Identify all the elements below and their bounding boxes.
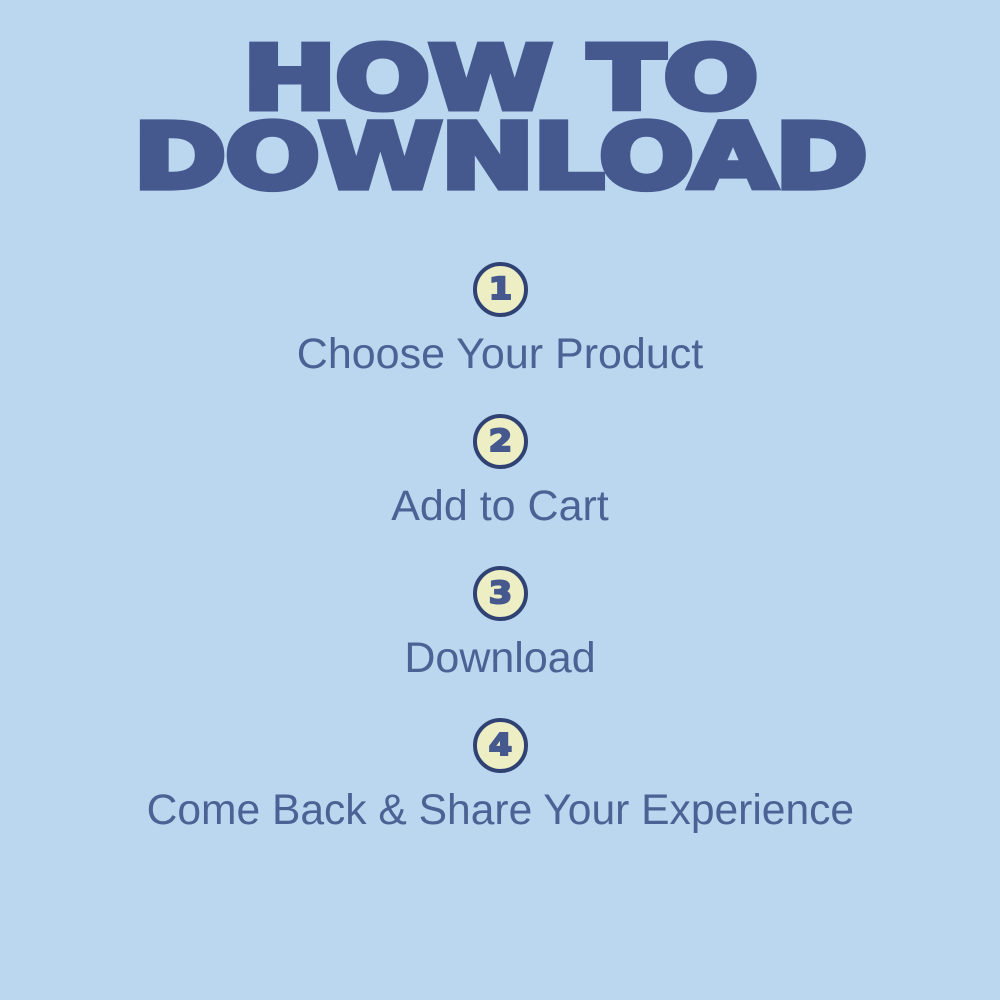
steps-list: 1 Choose Your Product 2 Add to Cart 3 Do… <box>0 262 1000 832</box>
step-item-1: 1 Choose Your Product <box>0 262 1000 376</box>
step-number-badge-4: 4 <box>473 718 528 773</box>
title-line-download: DOWNLOAD <box>0 120 1000 197</box>
step-number-badge-3: 3 <box>473 566 528 621</box>
step-item-3: 3 Download <box>0 566 1000 680</box>
step-number-badge-2: 2 <box>473 414 528 469</box>
step-number-3: 3 <box>488 579 511 609</box>
step-label-4: Come Back & Share Your Experience <box>146 789 854 832</box>
step-number-badge-1: 1 <box>473 262 528 317</box>
step-number-4: 4 <box>488 731 511 761</box>
step-number-2: 2 <box>488 427 511 457</box>
how-to-download-poster: HOW TO DOWNLOAD 1 Choose Your Product 2 … <box>0 0 1000 1000</box>
step-label-3: Download <box>404 637 595 680</box>
step-item-2: 2 Add to Cart <box>0 414 1000 528</box>
step-label-1: Choose Your Product <box>297 333 703 376</box>
step-item-4: 4 Come Back & Share Your Experience <box>0 718 1000 832</box>
step-label-2: Add to Cart <box>391 485 609 528</box>
page-title: HOW TO DOWNLOAD <box>0 42 1000 194</box>
step-number-1: 1 <box>488 275 511 305</box>
